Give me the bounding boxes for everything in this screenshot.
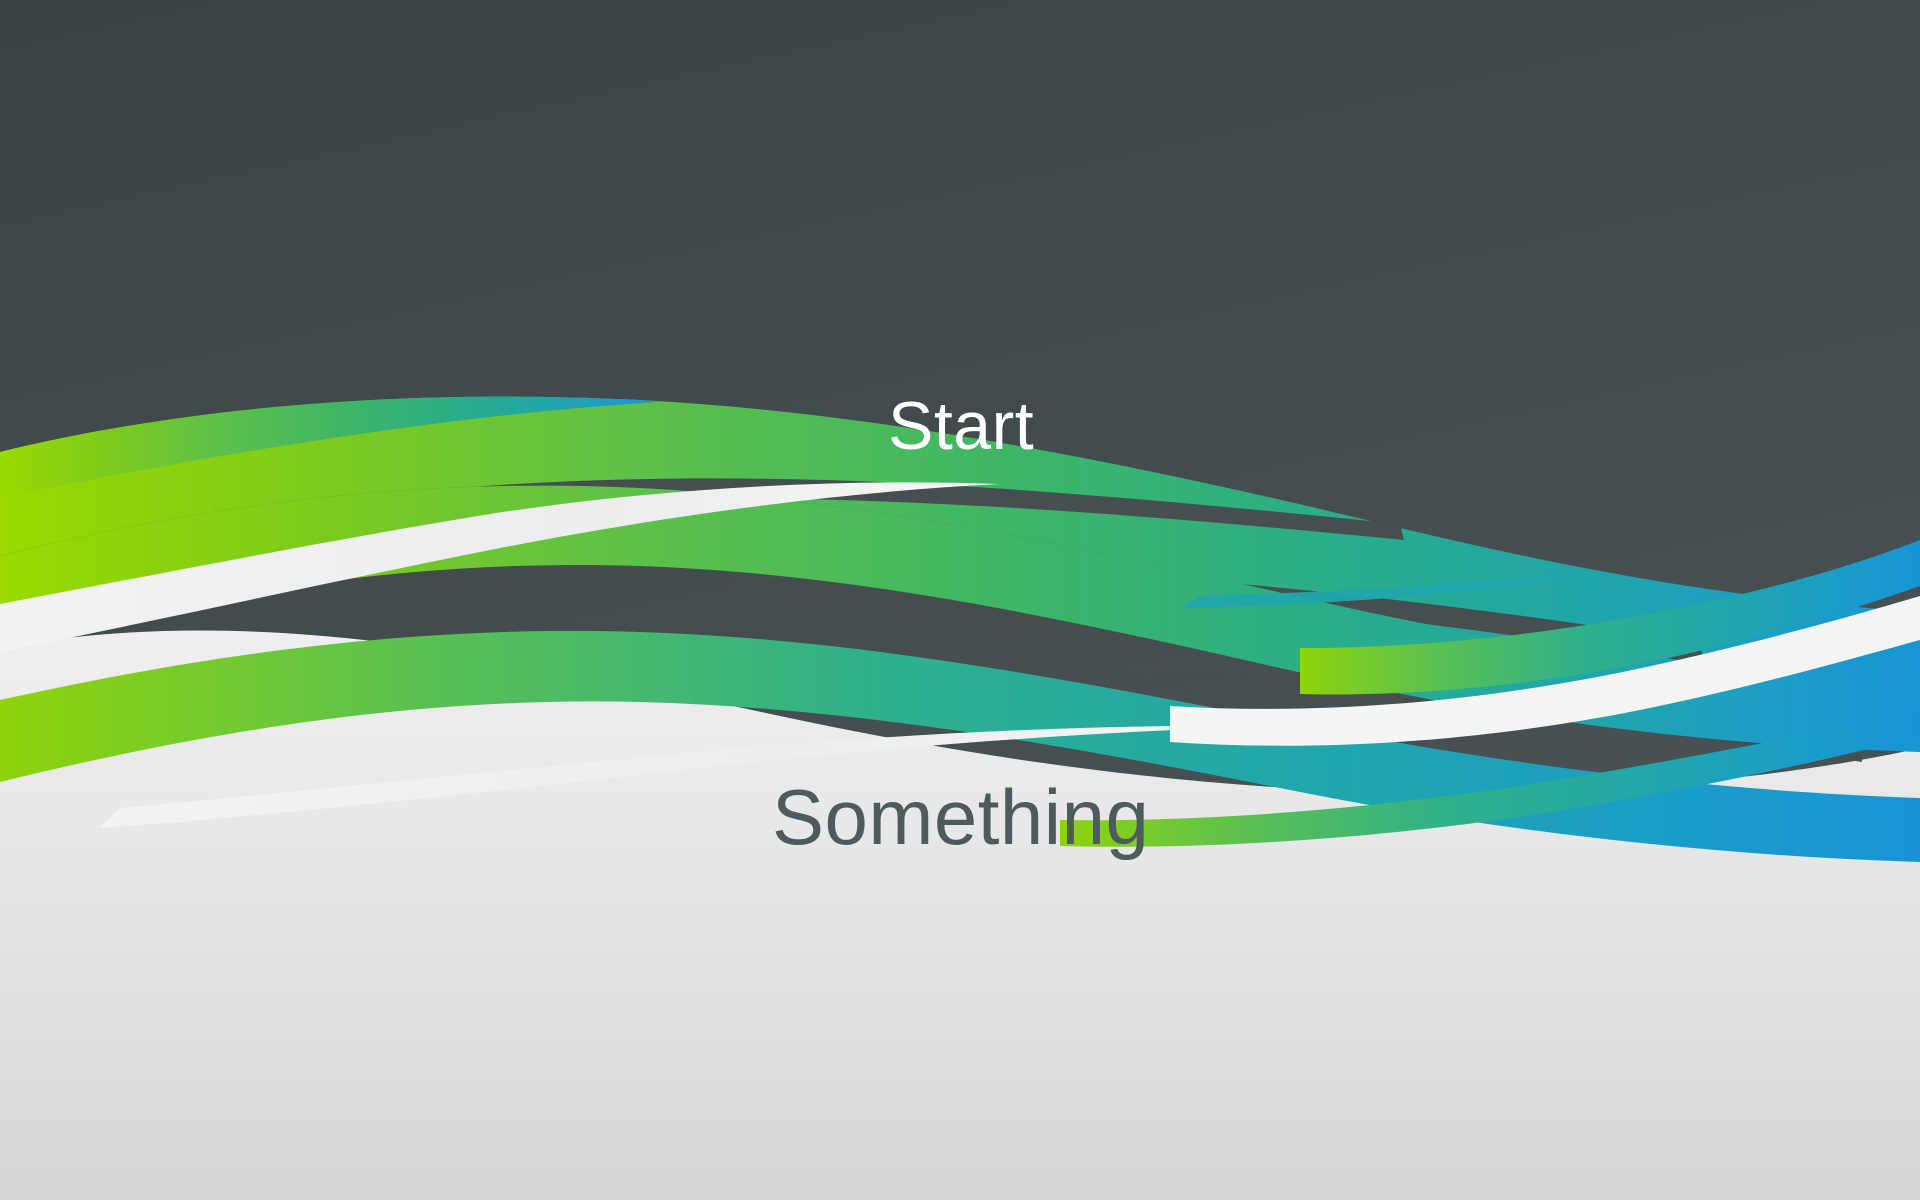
page-title-something: Something [772,778,1149,856]
ribbon-wave-artwork [0,0,1920,1200]
page-title-start: Start [888,392,1034,460]
wallpaper-canvas: Start Something [0,0,1920,1200]
